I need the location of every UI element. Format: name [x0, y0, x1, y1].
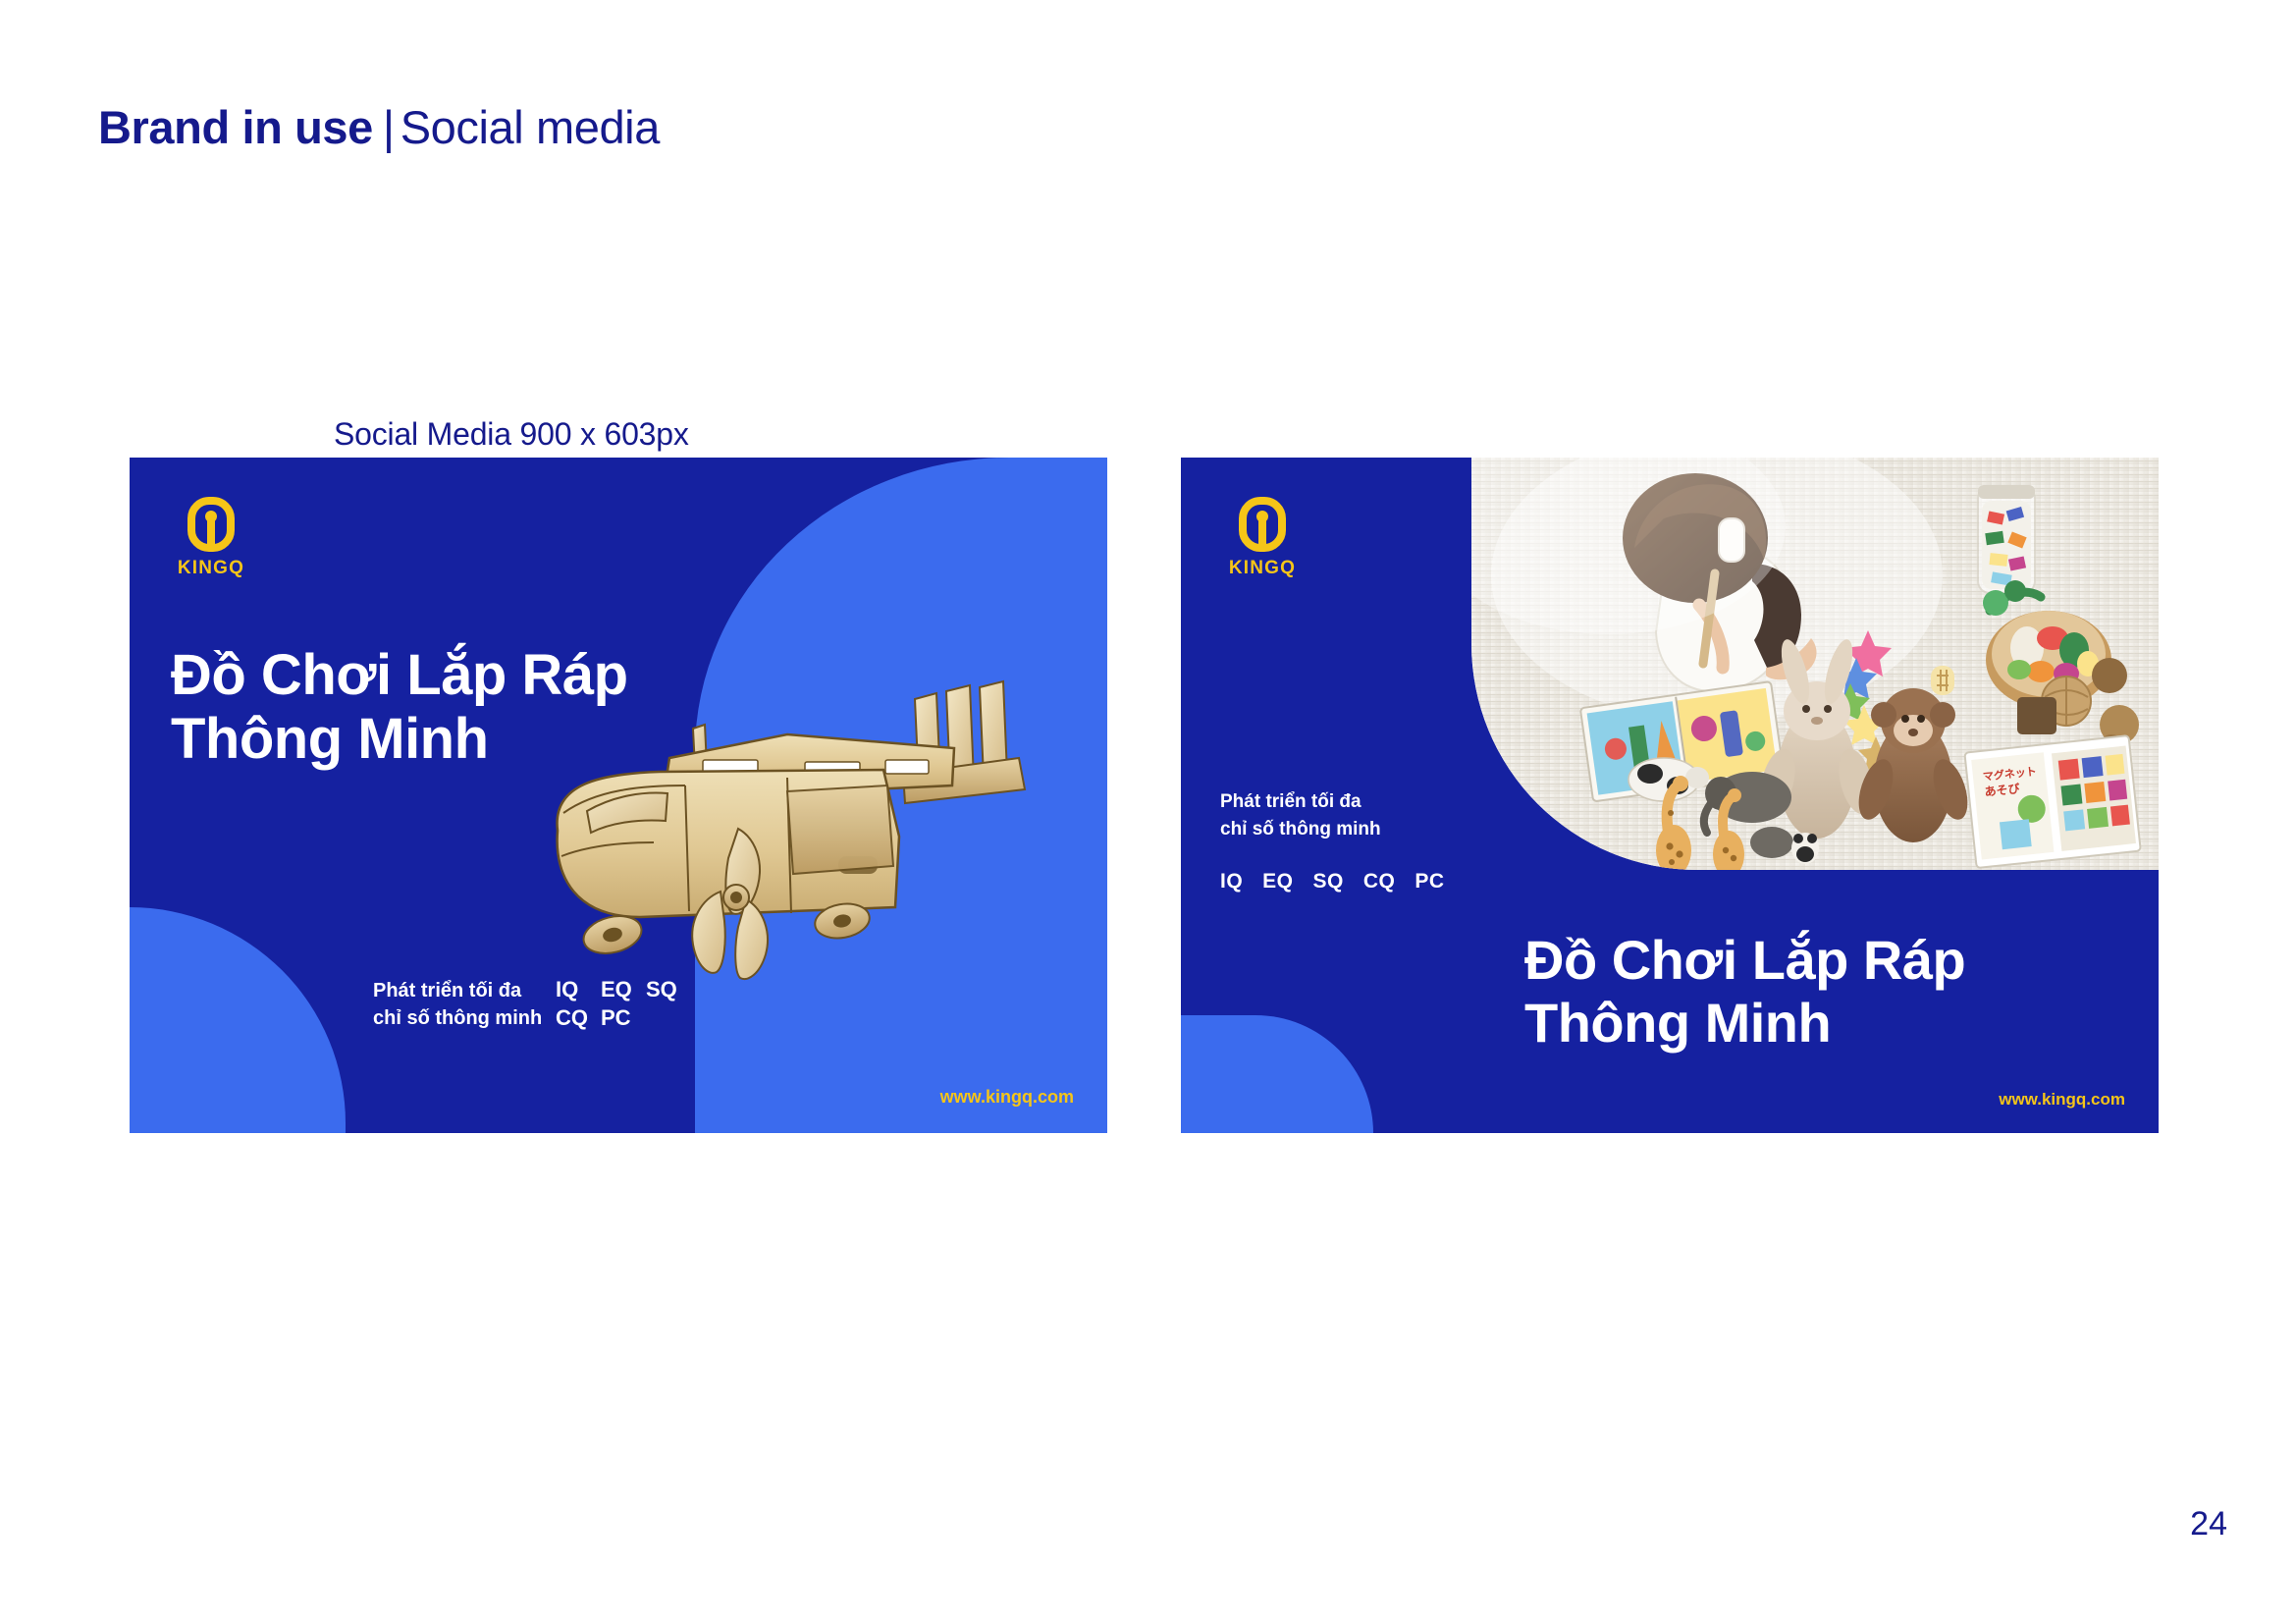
card1-indices-row1: IQEQSQ [556, 975, 691, 1003]
page-title-divider: | [373, 101, 400, 153]
card1-headline-line1: Đồ Chơi Lắp Ráp [171, 644, 628, 708]
kingq-logo[interactable]: KINGQ [1220, 497, 1305, 583]
toddler-playing-photo: マグネット あそび [1471, 458, 2159, 870]
card2-index-sq: SQ [1313, 870, 1344, 893]
page-title-light: Social media [400, 101, 660, 153]
spec-caption: Social Media 900 x 603px [334, 416, 689, 453]
card1-index-iq: IQ [556, 975, 601, 1003]
card1-headline-line2: Thông Minh [171, 708, 628, 772]
card1-indices-row2: CQPC [556, 1003, 691, 1032]
page-number: 24 [2190, 1505, 2227, 1543]
card2-headline: Đồ Chơi Lắp Ráp Thông Minh [1524, 929, 1965, 1056]
card2-index-iq: IQ [1220, 870, 1243, 893]
kingq-q-mark-icon [1239, 497, 1286, 552]
logo-stem-shape [1258, 520, 1266, 546]
card2-headline-line1: Đồ Chơi Lắp Ráp [1524, 929, 1965, 992]
card1-tagline: Phát triển tối đa chỉ số thông minh [373, 977, 542, 1033]
card2-bottom-blob [1181, 1015, 1373, 1133]
social-media-card-playmat[interactable]: KINGQ [1181, 458, 2159, 1133]
card1-bottom-blob [130, 907, 346, 1133]
social-media-card-plane[interactable]: KINGQ Đồ Chơi Lắp Ráp Thông Minh [130, 458, 1107, 1133]
card2-index-eq: EQ [1262, 870, 1293, 893]
page-title: Brand in use|Social media [98, 102, 660, 153]
card1-index-cq: CQ [556, 1003, 601, 1032]
slide-page: Brand in use|Social media Social Media 9… [0, 0, 2296, 1624]
kingq-wordmark: KINGQ [1220, 558, 1305, 579]
card1-indices: IQEQSQ CQPC [556, 975, 691, 1032]
card1-index-sq: SQ [646, 975, 691, 1003]
card1-headline: Đồ Chơi Lắp Ráp Thông Minh [171, 644, 628, 772]
logo-stem-shape [207, 520, 215, 546]
kingq-logo[interactable]: KINGQ [169, 497, 253, 583]
card2-index-pc: PC [1415, 870, 1444, 893]
card2-tagline-line1: Phát triển tối đa [1220, 788, 1381, 816]
card1-tagline-line2: chỉ số thông minh [373, 1004, 542, 1032]
kingq-wordmark: KINGQ [169, 558, 253, 579]
card2-index-cq: CQ [1363, 870, 1396, 893]
card1-index-pc: PC [601, 1003, 646, 1032]
card2-website-url[interactable]: www.kingq.com [1999, 1090, 2125, 1110]
card2-tagline: Phát triển tối đa chỉ số thông minh [1220, 788, 1381, 842]
kingq-q-mark-icon [187, 497, 235, 552]
card1-website-url[interactable]: www.kingq.com [940, 1087, 1074, 1108]
card2-headline-line2: Thông Minh [1524, 992, 1965, 1055]
page-title-bold: Brand in use [98, 101, 373, 153]
card1-tagline-line1: Phát triển tối đa [373, 977, 542, 1004]
card2-tagline-line2: chỉ số thông minh [1220, 816, 1381, 843]
card2-indices: IQEQSQCQPC [1220, 870, 1465, 893]
card1-index-eq: EQ [601, 975, 646, 1003]
